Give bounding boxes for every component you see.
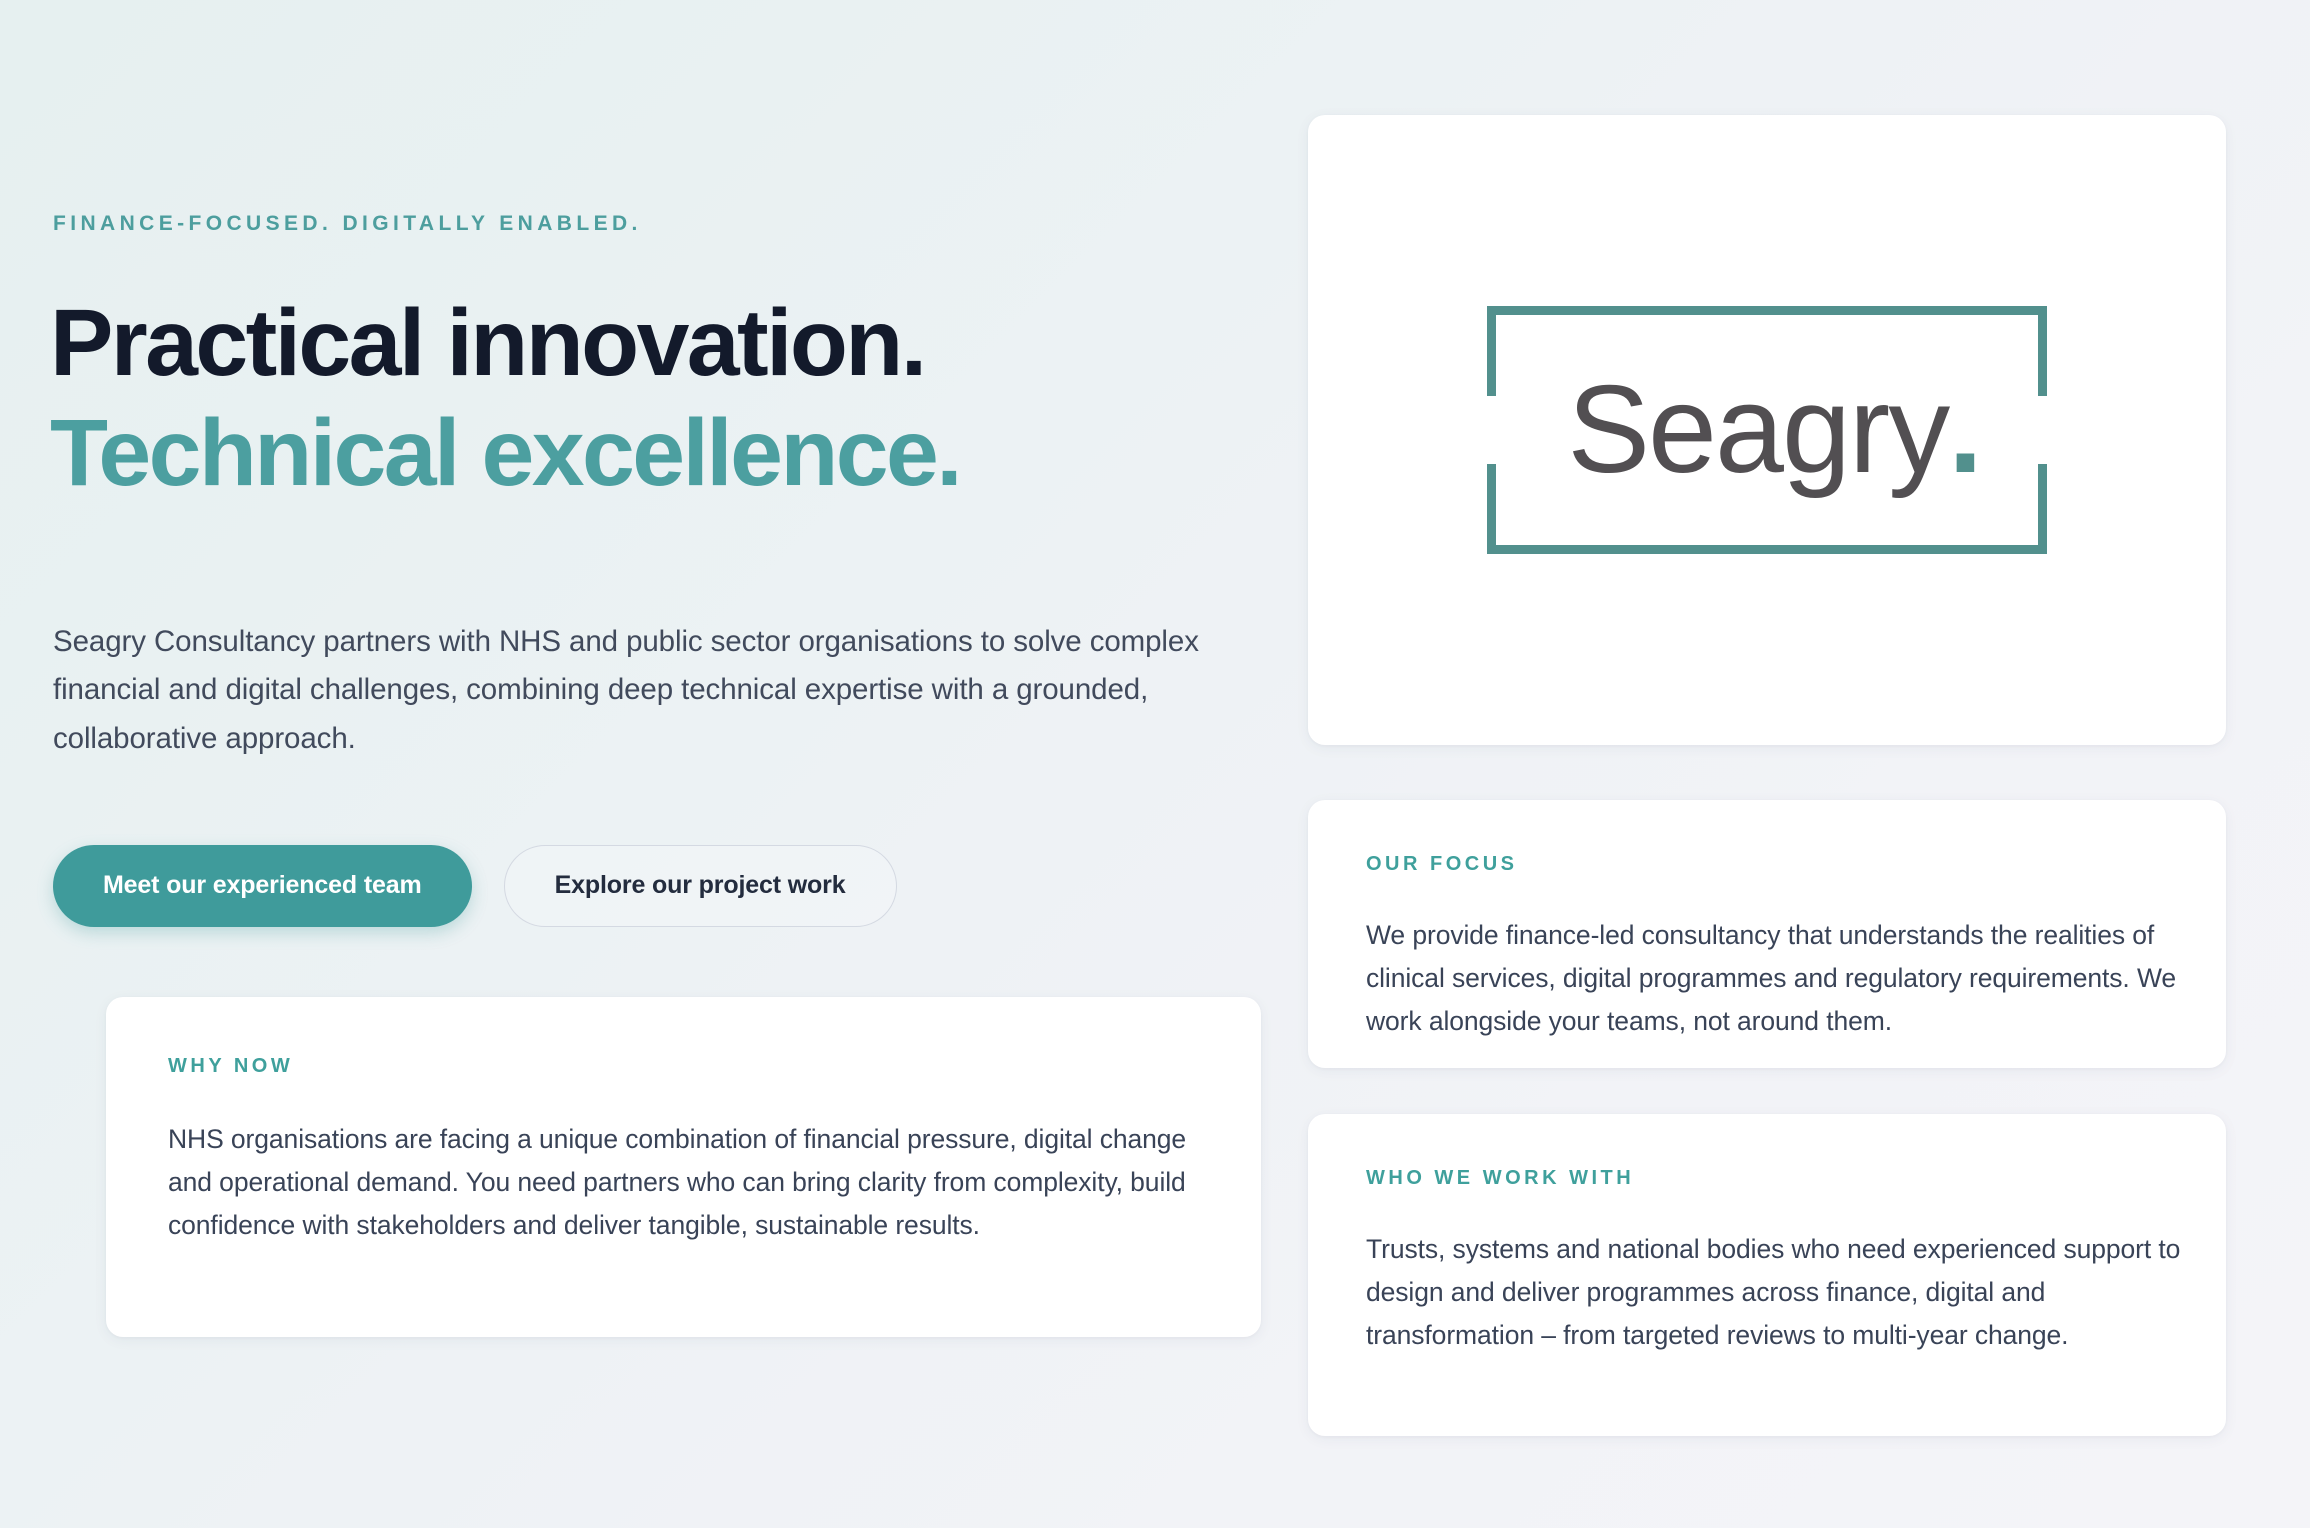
- headline-line-two: Technical excellence.: [50, 398, 960, 508]
- page-title: Practical innovation. Technical excellen…: [50, 288, 960, 508]
- explore-project-work-button[interactable]: Explore our project work: [504, 845, 897, 927]
- our-focus-card: OUR FOCUS We provide finance-led consult…: [1308, 800, 2226, 1068]
- cta-button-group: Meet our experienced team Explore our pr…: [53, 845, 897, 927]
- hero-eyebrow: FINANCE-FOCUSED. DIGITALLY ENABLED.: [53, 212, 642, 236]
- why-now-card-label: WHY NOW: [168, 1055, 1199, 1078]
- headline-line-one: Practical innovation.: [50, 290, 925, 396]
- hero-section: FINANCE-FOCUSED. DIGITALLY ENABLED. Prac…: [0, 0, 2310, 1528]
- who-we-work-with-card-body: Trusts, systems and national bodies who …: [1366, 1228, 2196, 1357]
- meet-our-team-button[interactable]: Meet our experienced team: [53, 845, 472, 927]
- who-we-work-with-card-label: WHO WE WORK WITH: [1366, 1167, 2168, 1190]
- hero-left-column: FINANCE-FOCUSED. DIGITALLY ENABLED. Prac…: [53, 0, 1233, 1528]
- who-we-work-with-card: WHO WE WORK WITH Trusts, systems and nat…: [1308, 1114, 2226, 1436]
- hero-lead-paragraph: Seagry Consultancy partners with NHS and…: [53, 618, 1223, 763]
- why-now-card-body: NHS organisations are facing a unique co…: [168, 1118, 1208, 1247]
- why-now-card: WHY NOW NHS organisations are facing a u…: [106, 997, 1261, 1337]
- logo-dot: .: [1948, 368, 1980, 492]
- brand-logo-card: Seagry.: [1308, 115, 2226, 745]
- bracket-frame-icon: Seagry.: [1487, 306, 2047, 554]
- our-focus-card-body: We provide finance-led consultancy that …: [1366, 914, 2186, 1043]
- logo-wordmark: Seagry.: [1487, 306, 2047, 554]
- our-focus-card-label: OUR FOCUS: [1366, 853, 2168, 876]
- logo-wordmark-text: Seagry: [1567, 368, 1948, 492]
